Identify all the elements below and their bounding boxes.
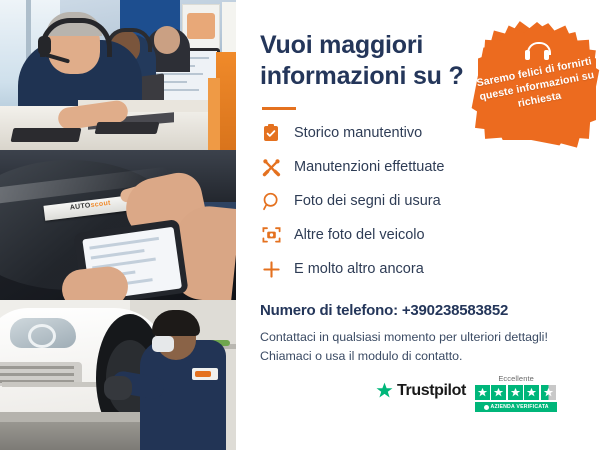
list-item-maintenance-done[interactable]: Manutenzioni effettuate xyxy=(260,156,578,178)
verified-badge-label: AZIENDA VERIFICATA xyxy=(491,404,549,410)
photo-column: AUTOscout xyxy=(0,0,236,450)
trustpilot-star-rating xyxy=(475,385,558,400)
contact-line-1: Contattaci in qualsiasi momento per ulte… xyxy=(260,328,578,347)
trustpilot-logo: Trustpilot xyxy=(376,374,466,400)
photo-frame-icon xyxy=(260,224,282,246)
rating-star-3 xyxy=(508,385,523,400)
advertisement-banner: AUTOscout xyxy=(0,0,600,450)
wall-poster-secondary xyxy=(222,2,236,52)
keyboard-left xyxy=(11,128,82,142)
uniform-logo xyxy=(192,368,218,380)
content-panel: Vuoi maggiori informazioni su ? Saremo f… xyxy=(236,0,600,450)
keyboard-right xyxy=(95,122,160,134)
trustpilot-widget[interactable]: Trustpilot Eccellente AZIENDA VERIFICATA xyxy=(376,374,557,413)
rating-star-4 xyxy=(524,385,539,400)
headset-icon xyxy=(524,42,550,62)
trustpilot-wordmark: Trustpilot xyxy=(397,382,466,400)
list-item-label: Manutenzioni effettuate xyxy=(294,159,444,175)
rating-star-5 xyxy=(541,385,556,400)
phone-number[interactable]: Numero di telefono: +390238583852 xyxy=(260,302,578,319)
feature-list: Storico manutentivo Manutenzi xyxy=(260,122,578,280)
photo-call-center xyxy=(0,0,236,150)
contact-text: Contattaci in qualsiasi momento per ulte… xyxy=(260,328,578,366)
trustpilot-rating-label: Eccellente xyxy=(498,374,534,383)
list-item-label: Altre foto del veicolo xyxy=(294,227,425,243)
tools-icon xyxy=(260,156,282,178)
photo-tread-measurement: AUTOscout xyxy=(0,150,236,300)
plus-icon xyxy=(260,258,282,280)
photo-tire-inspection xyxy=(0,300,236,450)
list-item-label: E molto altro ancora xyxy=(294,261,424,277)
list-item-more[interactable]: E molto altro ancora xyxy=(260,258,578,280)
contact-line-2: Chiamaci o usa il modulo di contatto. xyxy=(260,347,578,366)
car-headlight xyxy=(10,318,76,348)
verified-business-badge: AZIENDA VERIFICATA xyxy=(475,402,558,412)
list-item-vehicle-photos[interactable]: Altre foto del veicolo xyxy=(260,224,578,246)
page-title: Vuoi maggiori informazioni su ? xyxy=(260,30,475,91)
trustpilot-star-icon xyxy=(376,382,393,399)
magnifier-icon xyxy=(260,190,282,212)
vehicle-lift-arm xyxy=(0,412,150,422)
list-item-wear-photos[interactable]: Foto dei segni di usura xyxy=(260,190,578,212)
orange-equipment-secondary xyxy=(208,78,220,150)
callout-badge: Saremo felici di fornirti queste informa… xyxy=(478,22,596,140)
car-chrome-trim xyxy=(2,382,98,387)
colleague-background-head xyxy=(154,26,180,54)
title-underline-divider xyxy=(262,107,296,110)
rating-star-1 xyxy=(475,385,490,400)
verified-check-icon xyxy=(484,405,489,410)
list-item-label: Foto dei segni di usura xyxy=(294,193,441,209)
mechanic-glove xyxy=(104,376,132,400)
mechanic-face-mask xyxy=(152,336,174,352)
clipboard-check-icon xyxy=(260,122,282,144)
trustpilot-rating: Eccellente AZIENDA VERIFICATA xyxy=(475,374,558,413)
list-item-label: Storico manutentivo xyxy=(294,125,422,141)
rating-star-2 xyxy=(491,385,506,400)
